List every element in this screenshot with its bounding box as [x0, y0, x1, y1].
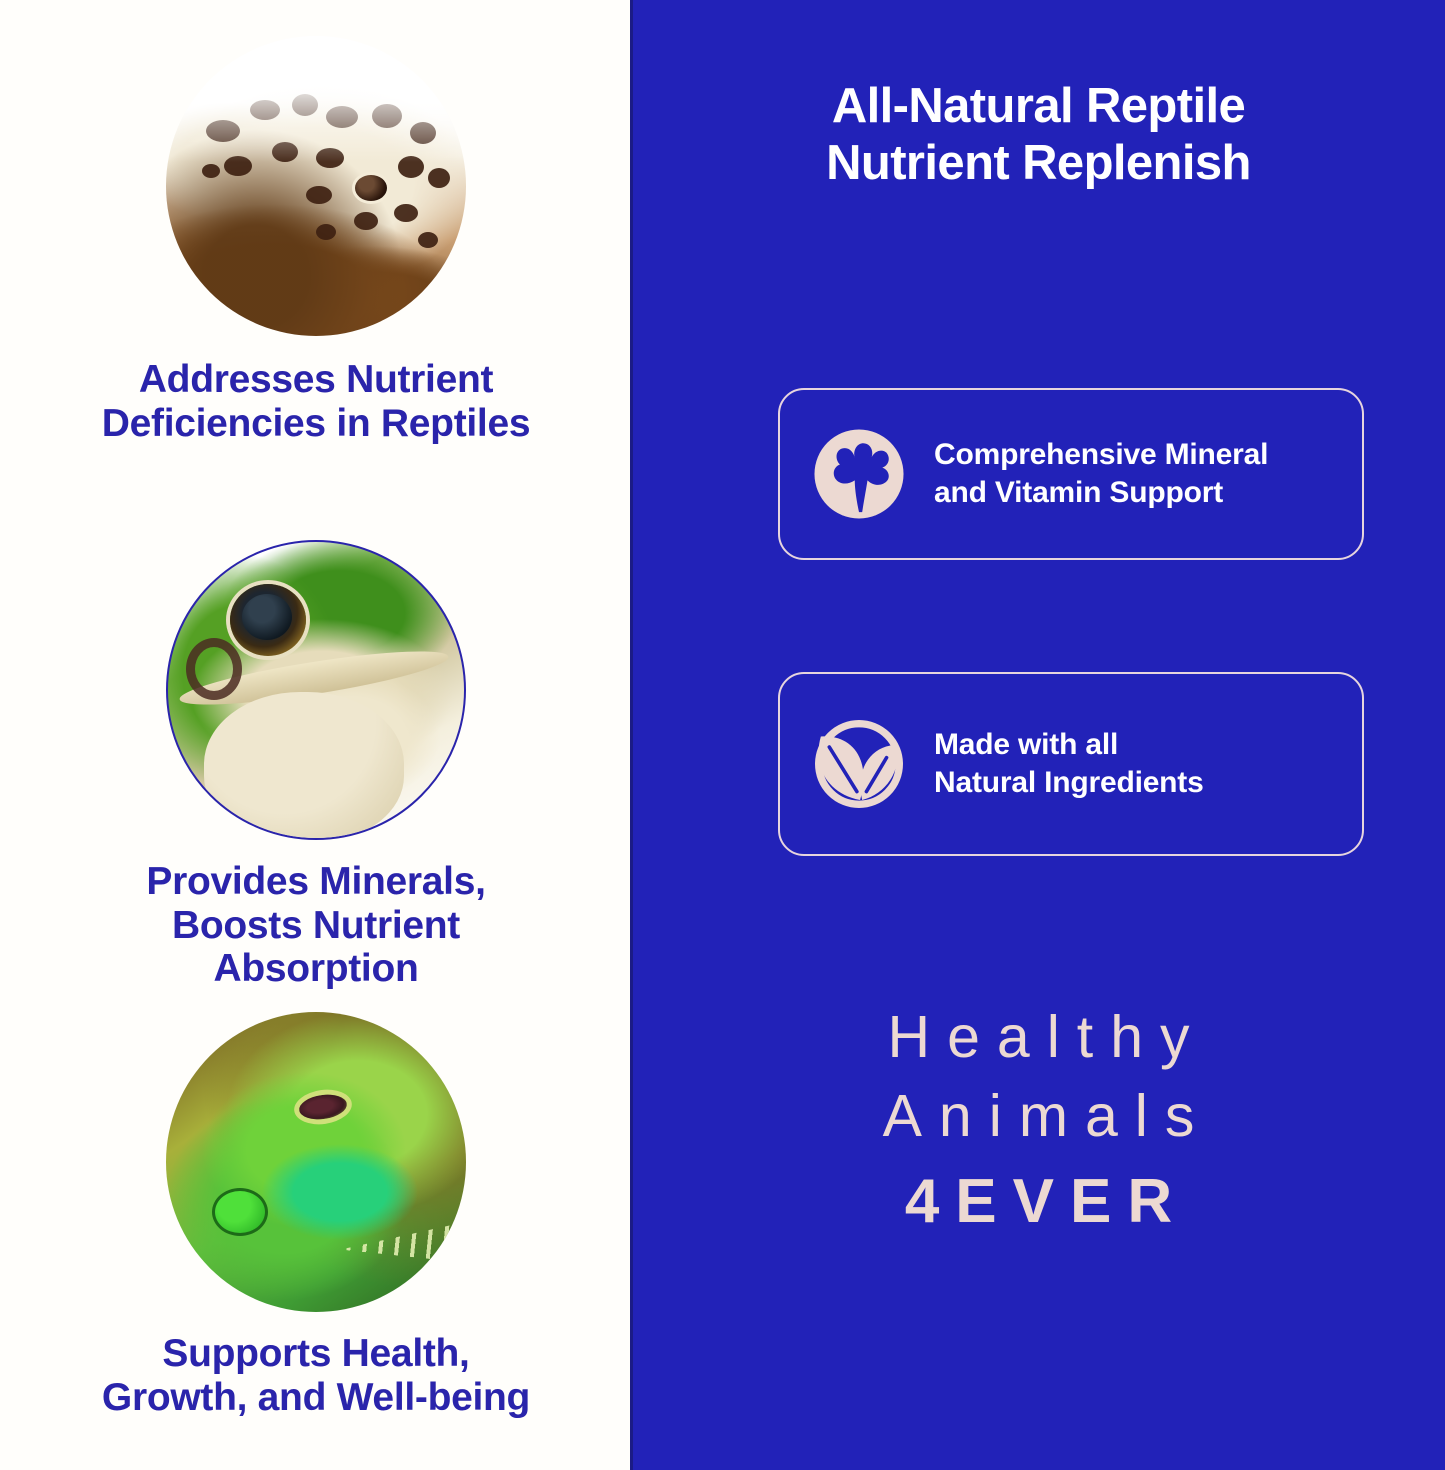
green-frog-photo: [166, 540, 466, 840]
feature-block-3: Supports Health, Growth, and Well-being: [0, 1012, 632, 1419]
headline-line: Nutrient Replenish: [668, 135, 1409, 192]
feature-block-1: Addresses Nutrient Deficiencies in Repti…: [0, 36, 632, 445]
badge-line: Comprehensive Mineral: [934, 436, 1268, 474]
feature-caption-3: Supports Health, Growth, and Well-being: [102, 1332, 530, 1419]
iguana-tympanum: [212, 1188, 268, 1236]
mineral-tree-icon: [806, 421, 912, 527]
natural-leaves-icon: [806, 711, 912, 817]
feature-badge-natural-ingredients: Made with all Natural Ingredients: [778, 672, 1364, 856]
badge-line: Made with all: [934, 726, 1204, 764]
leopard-gecko-photo: [166, 36, 466, 336]
page-title: All-Natural Reptile Nutrient Replenish: [632, 78, 1445, 192]
green-iguana-photo: [166, 1012, 466, 1312]
product-infographic: Addresses Nutrient Deficiencies in Repti…: [0, 0, 1445, 1470]
caption-line: Boosts Nutrient: [146, 904, 485, 948]
badge-label: Made with all Natural Ingredients: [934, 726, 1204, 802]
feature-block-2: Provides Minerals, Boosts Nutrient Absor…: [0, 540, 632, 991]
brand-line-animals: Animals: [632, 1077, 1445, 1156]
feature-caption-1: Addresses Nutrient Deficiencies in Repti…: [102, 358, 530, 445]
caption-line: Addresses Nutrient: [102, 358, 530, 402]
brand-line-healthy: Healthy: [632, 998, 1445, 1077]
brand-panel: All-Natural Reptile Nutrient Replenish C…: [632, 0, 1445, 1470]
caption-line: Absorption: [146, 947, 485, 991]
brand-line-4ever: 4EVER: [632, 1162, 1445, 1241]
badge-line: and Vitamin Support: [934, 474, 1268, 512]
gecko-eye: [352, 172, 390, 204]
caption-line: Deficiencies in Reptiles: [102, 402, 530, 446]
brand-lockup: Healthy Animals 4EVER: [632, 998, 1445, 1241]
badge-label: Comprehensive Mineral and Vitamin Suppor…: [934, 436, 1268, 512]
vertical-divider: [630, 0, 633, 1470]
headline-line: All-Natural Reptile: [668, 78, 1409, 135]
caption-line: Growth, and Well-being: [102, 1376, 530, 1420]
iguana-eye: [292, 1086, 354, 1128]
features-column: Addresses Nutrient Deficiencies in Repti…: [0, 0, 632, 1470]
feature-badge-mineral-support: Comprehensive Mineral and Vitamin Suppor…: [778, 388, 1364, 560]
badge-line: Natural Ingredients: [934, 764, 1204, 802]
caption-line: Provides Minerals,: [146, 860, 485, 904]
caption-line: Supports Health,: [102, 1332, 530, 1376]
feature-caption-2: Provides Minerals, Boosts Nutrient Absor…: [146, 860, 485, 991]
